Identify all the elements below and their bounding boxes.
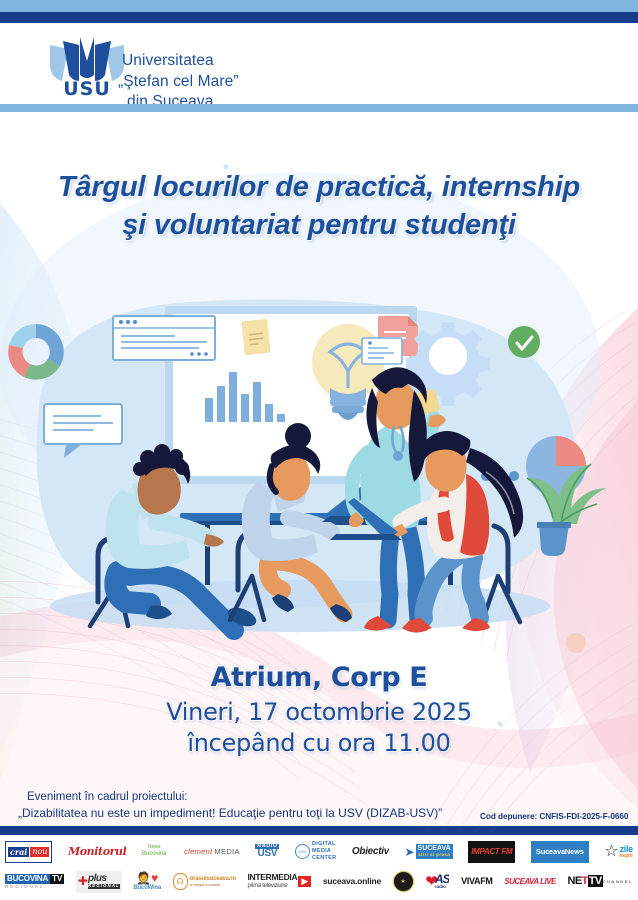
sponsor-dmc-text: DIGITAL MEDIA CENTER [312, 841, 336, 862]
header-divider-bar [0, 104, 638, 112]
sponsor-tv-plus-b: REGIONAL [88, 884, 120, 889]
sponsor-intermedia-l2: prima televiziune [247, 883, 297, 890]
sponsor-zile-text: zile nopti [620, 845, 633, 859]
poster-root: USU Universitatea „Ştefan cel Mare” din … [0, 0, 638, 900]
event-info: Atrium, Corp E Vineri, 17 octombrie 2025… [0, 662, 638, 759]
header: USU Universitatea „Ştefan cel Mare” din … [0, 23, 638, 104]
submission-code: Cod depunere: CNFIS-FDI-2025-F-0660 [480, 812, 635, 821]
sponsor-orasul-l2: te integra a noastra [190, 883, 236, 888]
sponsor-suceava-online[interactable]: suceava.online [323, 871, 381, 893]
sponsor-orasul-text: orasulsuceava.ro te integra a noastra [190, 876, 236, 888]
sponsor-bucovina-tv-row: BUCOVINA TV [5, 874, 64, 884]
sponsor-dmc-l2: MEDIA [312, 848, 336, 855]
sponsor-suceava-stiri[interactable]: ➤ SUCEAVA stiri si presa [404, 841, 452, 863]
sponsor-clement-media[interactable]: clementMEDIA [182, 841, 240, 863]
sponsor-impact-fm[interactable]: IMPACT FM [468, 841, 515, 863]
project-note: Eveniment în cadrul proiectului: „Dizabi… [18, 789, 488, 822]
sponsor-viva-b: FM [480, 877, 492, 886]
sponsor-bucovina-tv-a: BUCOVINA [5, 874, 50, 884]
project-note-line-1: Eveniment în cadrul proiectului: [27, 789, 488, 805]
sponsor-crai-nou[interactable]: crainou [5, 841, 52, 863]
sponsor-suceava-live[interactable]: SUCEAVA LIVE [504, 871, 556, 893]
sponsor-next-tv-b: T [582, 875, 588, 887]
sponsor-logo-strip: crainou Monitorul News Bucovina clementM… [0, 835, 638, 900]
people-icon: 🤵♥ [133, 872, 161, 885]
sponsor-bucovina-tv-b: TV [50, 874, 64, 884]
sponsor-intermedia[interactable]: INTERMEDIA prima televiziune ▶ [247, 871, 311, 893]
usv-seal-icon: USV [295, 844, 310, 859]
sponsor-radio-usv-b: USV [255, 849, 279, 859]
sponsor-suceava-stiri-l2: stiri si presa [418, 853, 451, 858]
main-illustration [0, 276, 638, 651]
sponsor-orasul-l1: orasulsuceava.ro [190, 876, 236, 882]
title-line-2: şi voluntariat pentru studenţi [0, 206, 638, 244]
sponsor-dmc-l3: CENTER [312, 855, 336, 862]
svg-text:USU: USU [63, 78, 111, 97]
sponsor-tv-plus[interactable]: ✚ plus REGIONAL [76, 871, 122, 893]
sponsor-intermedia-l1: INTERMEDIA [247, 872, 297, 882]
shield-icon: ☊ [173, 873, 188, 890]
star-icon: ☆ [604, 844, 618, 860]
sponsor-institution-seal[interactable]: ★ [393, 871, 414, 892]
sponsor-intermedia-text: INTERMEDIA prima televiziune [247, 873, 297, 890]
sponsor-bucowina-label: BucoWina [133, 885, 161, 891]
project-note-line-2: „Dizabilitatea nu este un impediment! Ed… [18, 805, 488, 822]
sponsor-tv-plus-text: plus REGIONAL [88, 874, 120, 889]
university-line-2: „Ştefan cel Mare” [118, 72, 239, 93]
sponsor-row-2: BUCOVINA TV REGIONAL ✚ plus REGIONAL 🤵♥ … [0, 867, 638, 896]
sponsor-suceava-stiri-box: SUCEAVA stiri si presa [416, 844, 453, 859]
sponsor-viva-a: VIVA [461, 877, 480, 886]
university-line-1: Universitatea [122, 51, 239, 72]
page-title: Târgul locurilor de practică, internship… [0, 168, 638, 245]
sponsor-digital-media-center[interactable]: USV DIGITAL MEDIA CENTER [295, 841, 336, 863]
sponsor-zile-l1: zile [620, 844, 633, 854]
plus-icon: ✚ [78, 877, 88, 887]
sponsor-bucovina-tv-sub: REGIONAL [5, 885, 44, 890]
bottom-navy-bar [0, 826, 638, 835]
sponsor-row-1: crainou Monitorul News Bucovina clementM… [0, 837, 638, 866]
play-icon: ▶ [298, 876, 311, 887]
sponsor-radio-usv[interactable]: RADIO USV [255, 841, 279, 863]
event-date: Vineri, 17 octombrie 2025 [0, 697, 638, 728]
sponsor-radio-as-text: AS radio [435, 873, 450, 890]
sponsor-news-bucovina[interactable]: News Bucovina [142, 841, 167, 863]
sponsor-crai-nou-b: nou [30, 847, 49, 857]
sponsor-monitorul[interactable]: Monitorul [68, 841, 126, 863]
bird-icon: ➤ [404, 846, 414, 858]
sponsor-zile-l2: nopti [620, 854, 633, 859]
sponsor-next-tv[interactable]: NETTV CHANNEL [568, 871, 633, 893]
sponsor-suceava-news[interactable]: SuceavaNews [531, 841, 589, 863]
sponsor-clement-name: clement [184, 848, 212, 856]
sponsor-zile-si-nopti[interactable]: ☆ zile nopti [604, 841, 633, 863]
sponsor-bucowina[interactable]: 🤵♥ BucoWina [133, 871, 161, 893]
sponsor-bucovina-tv[interactable]: BUCOVINA TV REGIONAL [5, 871, 64, 893]
event-place: Atrium, Corp E [0, 662, 638, 693]
title-line-1: Târgul locurilor de practică, internship [0, 168, 638, 206]
sponsor-news-bucovina-b: Bucovina [142, 851, 167, 858]
sponsor-crai-nou-a: crai [8, 847, 29, 857]
top-navy-bar [0, 12, 638, 23]
sponsor-dmc-l1: DIGITAL [312, 841, 336, 848]
sponsor-viva-fm[interactable]: VIVAFM [461, 871, 493, 893]
event-time: începând cu ora 11.00 [0, 728, 638, 759]
sponsor-next-tv-a: NE [568, 875, 582, 887]
sponsor-next-tv-sub: CHANNEL [603, 880, 633, 884]
sponsor-orasul-suceava[interactable]: ☊ orasulsuceava.ro te integra a noastra [173, 871, 236, 893]
top-light-bar [0, 0, 638, 12]
sponsor-radio-as[interactable]: ❤ AS radio [425, 871, 449, 893]
sponsor-clement-sub: MEDIA [214, 848, 239, 856]
sponsor-obiectiv[interactable]: Obiectiv [352, 841, 389, 863]
sponsor-next-tv-row: NETTV [568, 876, 603, 887]
sponsor-next-tv-c: TV [588, 875, 603, 887]
